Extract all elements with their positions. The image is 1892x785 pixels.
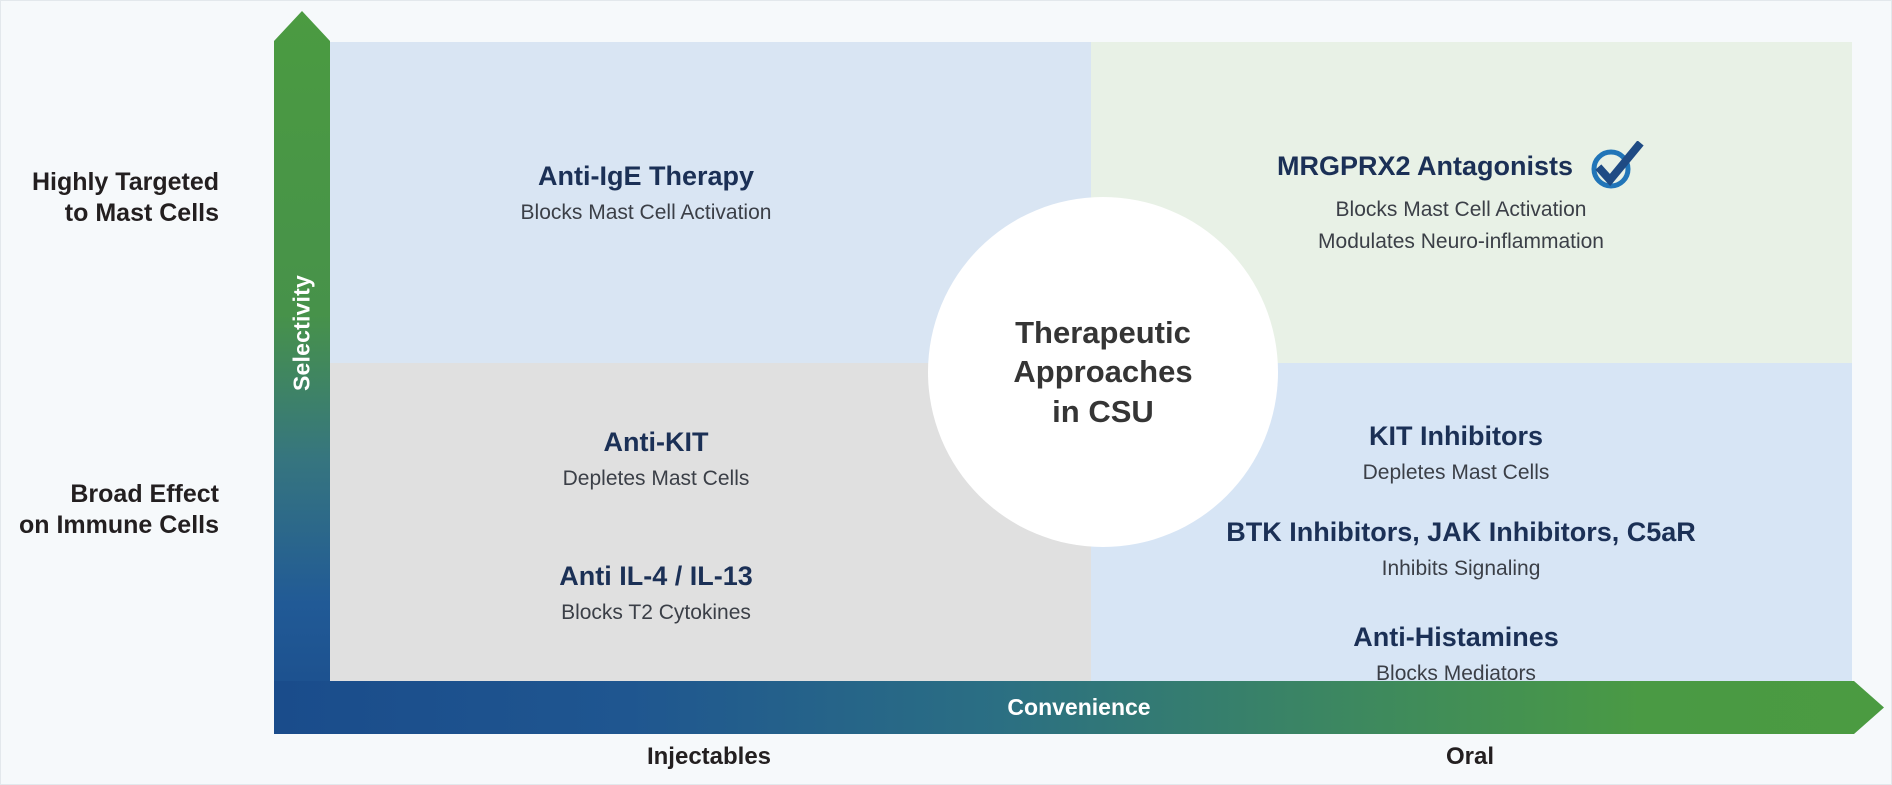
item-btk-jak-c5ar-title: BTK Inhibitors, JAK Inhibitors, C5aR <box>1226 515 1696 550</box>
item-mrgprx2-subtitle-2: Modulates Neuro-inflammation <box>1181 229 1741 256</box>
item-mrgprx2-subtitle: Blocks Mast Cell Activation <box>1181 197 1741 224</box>
strategy-matrix-diagram: Highly Targeted to Mast Cells Broad Effe… <box>0 0 1892 785</box>
item-mrgprx2-title-row: MRGPRX2 Antagonists <box>1181 141 1741 191</box>
x-axis-arrow-shape <box>274 681 1884 734</box>
check-circle-icon <box>1589 141 1645 191</box>
y-axis-tick-bottom: Broad Effect on Immune Cells <box>0 479 219 540</box>
item-anti-kit-subtitle: Depletes Mast Cells <box>351 466 961 493</box>
item-anti-il4-il13-title: Anti IL-4 / IL-13 <box>559 559 753 594</box>
center-circle-text: Therapeutic Approaches in CSU <box>1013 313 1192 430</box>
item-anti-kit: Anti-KIT Depletes Mast Cells <box>351 425 961 492</box>
item-anti-ige-title: Anti-IgE Therapy <box>538 159 754 194</box>
x-axis-tick-left: Injectables <box>647 743 771 771</box>
item-kit-inhibitors-title: KIT Inhibitors <box>1369 419 1543 454</box>
x-axis-arrow <box>274 681 1884 734</box>
item-btk-jak-c5ar: BTK Inhibitors, JAK Inhibitors, C5aR Inh… <box>1101 515 1821 582</box>
item-anti-ige-subtitle: Blocks Mast Cell Activation <box>331 200 961 227</box>
item-btk-jak-c5ar-subtitle: Inhibits Signaling <box>1101 556 1821 583</box>
center-circle: Therapeutic Approaches in CSU <box>928 197 1278 547</box>
item-anti-histamines-title: Anti-Histamines <box>1353 620 1559 655</box>
item-anti-kit-title: Anti-KIT <box>604 425 709 460</box>
item-anti-il4-il13: Anti IL-4 / IL-13 Blocks T2 Cytokines <box>351 559 961 626</box>
y-axis-tick-top: Highly Targeted to Mast Cells <box>0 167 219 228</box>
item-anti-histamines-subtitle: Blocks Mediators <box>1151 661 1761 688</box>
y-axis-arrow-shape <box>274 11 330 734</box>
item-mrgprx2-antagonists: MRGPRX2 Antagonists Blocks Mast Cell Act… <box>1181 141 1741 256</box>
item-anti-il4-il13-subtitle: Blocks T2 Cytokines <box>351 600 961 627</box>
y-axis-arrow <box>274 11 330 734</box>
x-axis-tick-right: Oral <box>1446 743 1494 771</box>
item-anti-ige: Anti-IgE Therapy Blocks Mast Cell Activa… <box>331 159 961 226</box>
item-anti-histamines: Anti-Histamines Blocks Mediators <box>1151 620 1761 687</box>
item-mrgprx2-title: MRGPRX2 Antagonists <box>1277 149 1573 184</box>
